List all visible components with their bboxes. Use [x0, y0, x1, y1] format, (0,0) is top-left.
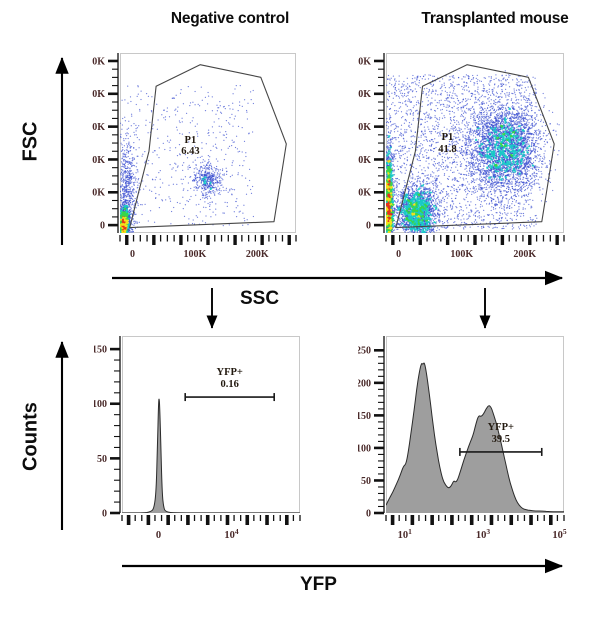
- y-tick-label: 150K: [358, 122, 371, 133]
- axis-label-fsc: FSC: [20, 107, 43, 177]
- x-tick-label: 100K: [183, 249, 206, 260]
- histogram-axes-transplanted-mouse: 050100150200250101103105: [358, 330, 570, 570]
- scatter-axes-transplanted-mouse: 050K100K150K200K250K0100K200K: [358, 48, 570, 288]
- x-tick-label: 105: [552, 527, 567, 541]
- y-tick-label: 150: [358, 411, 371, 422]
- histogram-axes-negative-control: 0501001500104: [94, 330, 306, 570]
- y-tick-label: 200K: [92, 89, 105, 100]
- x-tick-label: 103: [476, 527, 491, 541]
- panel-title-negative-control: Negative control: [140, 10, 320, 28]
- y-tick-label: 250K: [358, 56, 371, 67]
- y-tick-label: 150: [94, 345, 107, 356]
- y-tick-label: 100K: [358, 155, 371, 166]
- x-tick-label: 100K: [450, 249, 473, 260]
- x-tick-label: 0: [156, 530, 161, 541]
- scatter-axes-negative-control: 050K100K150K200K250K0100K200K: [92, 48, 302, 288]
- y-tick-label: 50K: [358, 188, 371, 199]
- y-tick-label: 0: [100, 221, 105, 232]
- y-tick-label: 100K: [92, 155, 105, 166]
- y-tick-label: 100: [358, 443, 371, 454]
- x-tick-label: 200K: [513, 249, 536, 260]
- y-tick-label: 150K: [92, 122, 105, 133]
- y-tick-label: 0: [366, 221, 371, 232]
- y-tick-label: 0: [102, 508, 107, 519]
- y-tick-label: 250K: [92, 56, 105, 67]
- axis-label-counts: Counts: [20, 392, 43, 482]
- x-tick-label: 104: [224, 527, 239, 541]
- y-tick-label: 200K: [358, 89, 371, 100]
- x-tick-label: 200K: [246, 249, 269, 260]
- axis-label-yfp: YFP: [300, 574, 337, 596]
- x-tick-label: 101: [398, 527, 413, 541]
- y-tick-label: 200: [358, 378, 371, 389]
- y-tick-label: 50K: [92, 188, 105, 199]
- y-tick-label: 50: [97, 454, 107, 465]
- x-tick-label: 0: [130, 249, 135, 260]
- y-tick-label: 50: [361, 476, 371, 487]
- x-tick-label: 0: [396, 249, 401, 260]
- axis-label-ssc: SSC: [240, 288, 279, 310]
- panel-title-transplanted-mouse: Transplanted mouse: [400, 10, 590, 28]
- y-tick-label: 0: [366, 508, 371, 519]
- flow-cytometry-figure: Negative control Transplanted mouse FSC …: [0, 0, 600, 620]
- y-tick-label: 250: [358, 346, 371, 357]
- y-tick-label: 100: [94, 399, 107, 410]
